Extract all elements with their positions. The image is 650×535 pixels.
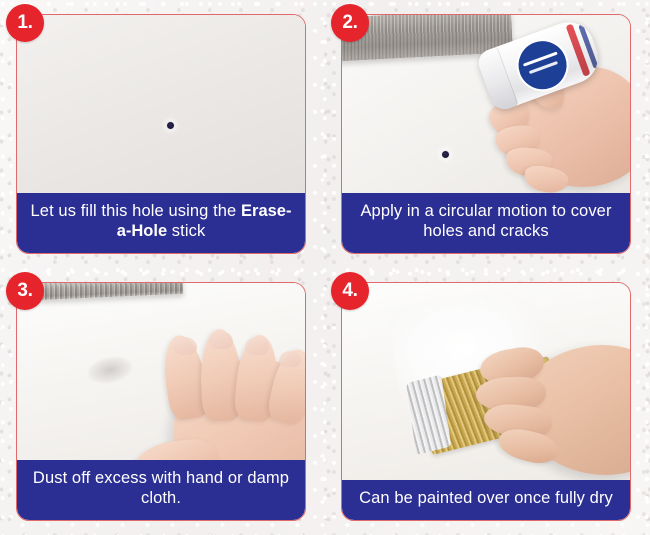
step-1-caption-post: stick: [167, 222, 205, 240]
step-card-3[interactable]: Dust off excess with hand or damp cloth.: [16, 282, 306, 522]
step-4-caption: Can be painted over once fully dry: [342, 480, 630, 520]
step-4-badge: 4.: [331, 272, 369, 310]
fingernail: [245, 337, 269, 355]
step-panel-3: Dust off excess with hand or damp cloth.…: [0, 268, 325, 535]
wall-surface: [17, 15, 305, 193]
step-2-photo: [342, 15, 630, 193]
step-3-caption: Dust off excess with hand or damp cloth.: [17, 460, 305, 520]
fingernail: [209, 331, 233, 349]
step-2-caption: Apply in a circular motion to cover hole…: [342, 193, 630, 253]
step-2-caption-pre: Apply in a circular motion to cover hole…: [360, 202, 611, 240]
step-4-photo: [342, 283, 630, 481]
step-card-2[interactable]: Apply in a circular motion to cover hole…: [341, 14, 631, 254]
step-3-photo: [17, 283, 305, 461]
step-1-caption-pre: Let us fill this hole using the: [31, 202, 242, 220]
step-panel-2: Apply in a circular motion to cover hole…: [325, 0, 650, 268]
step-card-4[interactable]: Can be painted over once fully dry: [341, 282, 631, 522]
step-card-1[interactable]: Let us fill this hole using the Erase-a-…: [16, 14, 306, 254]
fingernail: [279, 351, 301, 367]
fingernail: [173, 337, 197, 355]
step-panel-4: Can be painted over once fully dry 4.: [325, 268, 650, 535]
step-1-badge: 1.: [6, 4, 44, 42]
step-4-caption-pre: Can be painted over once fully dry: [359, 489, 613, 507]
step-panel-1: Let us fill this hole using the Erase-a-…: [0, 0, 325, 268]
step-1-photo: [17, 15, 305, 193]
step-3-caption-pre: Dust off excess with hand or damp cloth.: [33, 469, 289, 507]
hand-dusting-wall: [123, 329, 305, 461]
step-3-badge: 3.: [6, 272, 44, 310]
hand-holding-brush: [464, 335, 630, 481]
nail-hole: [442, 151, 449, 158]
nail-hole: [167, 122, 174, 129]
step-1-caption: Let us fill this hole using the Erase-a-…: [17, 193, 305, 253]
step-2-badge: 2.: [331, 4, 369, 42]
steps-grid: Let us fill this hole using the Erase-a-…: [0, 0, 650, 535]
